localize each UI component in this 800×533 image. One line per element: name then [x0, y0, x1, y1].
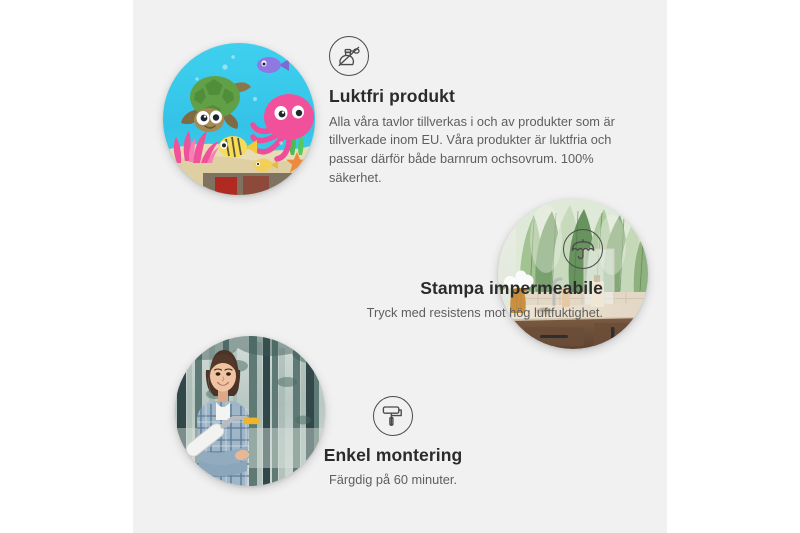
paint-roller-icon	[373, 396, 413, 436]
feature-body: Tryck med resistens mot hög luftfuktighe…	[193, 304, 603, 323]
underwater-cartoon-photo	[163, 43, 315, 195]
no-fragrance-icon	[329, 36, 369, 76]
feature-title: Luktfri produkt	[329, 86, 634, 108]
feature-block-odourless: Luktfri produkt Alla våra tavlor tillver…	[329, 36, 634, 187]
feature-title: Enkel montering	[253, 445, 533, 467]
umbrella-icon	[563, 229, 603, 269]
infographic-canvas: Luktfri produkt Alla våra tavlor tillver…	[0, 0, 800, 533]
content-panel: Luktfri produkt Alla våra tavlor tillver…	[133, 0, 667, 533]
feature-block-waterproof: Stampa impermeabile Tryck med resistens …	[193, 229, 603, 322]
feature-block-easy-assembly: Enkel montering Färgdig på 60 minuter.	[253, 396, 533, 489]
feature-icon-row	[253, 396, 533, 436]
feature-icon-row	[193, 229, 603, 269]
feature-body: Färgdig på 60 minuter.	[253, 471, 533, 490]
feature-body: Alla våra tavlor tillverkas i och av pro…	[329, 113, 634, 187]
feature-title: Stampa impermeabile	[193, 278, 603, 300]
